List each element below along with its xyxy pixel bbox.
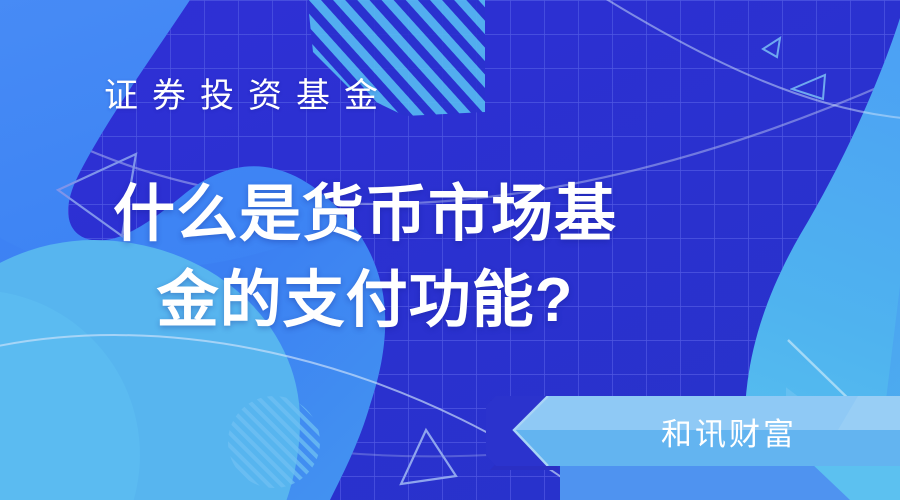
headline-line-2: 金的支付功能? xyxy=(0,258,730,344)
brand-ribbon: 和讯财富 xyxy=(486,396,900,466)
brand-ribbon-label: 和讯财富 xyxy=(486,396,900,466)
poster-content: 证券投资基金 什么是货币市场基 金的支付功能? xyxy=(0,0,900,500)
page-title: 什么是货币市场基 金的支付功能? xyxy=(0,172,900,343)
eyebrow-subtitle: 证券投资基金 xyxy=(104,76,392,117)
headline-line-1: 什么是货币市场基 xyxy=(0,172,730,258)
promo-poster: 证券投资基金 什么是货币市场基 金的支付功能? xyxy=(0,0,900,500)
